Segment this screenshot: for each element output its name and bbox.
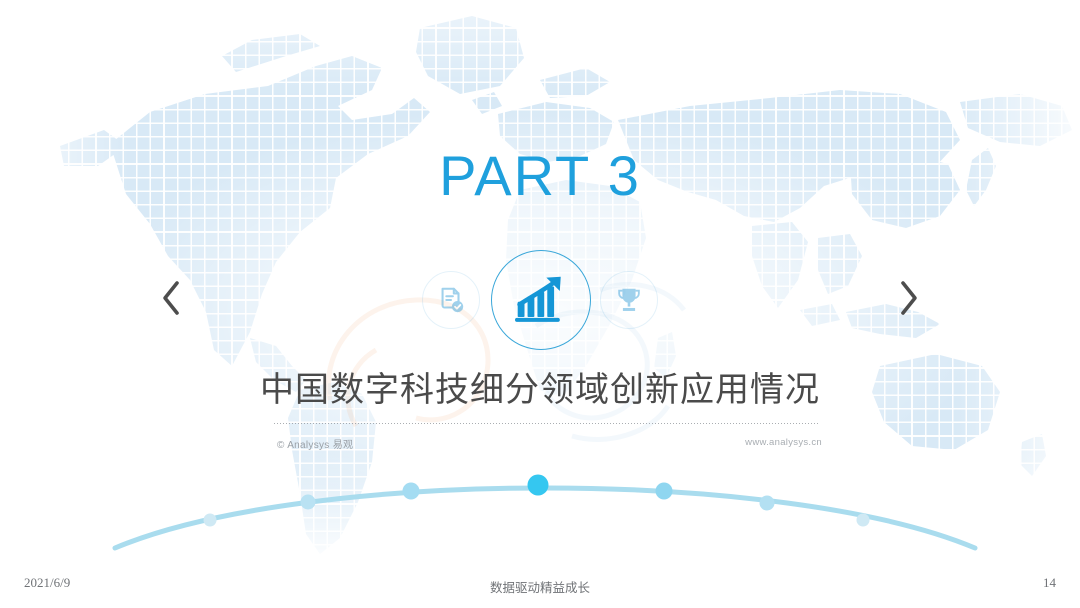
footer-page-number: 14 bbox=[1043, 575, 1056, 591]
progress-dot[interactable] bbox=[204, 514, 217, 527]
progress-dot-active[interactable] bbox=[528, 475, 549, 496]
progress-arc[interactable] bbox=[145, 462, 945, 542]
footer-tagline: 数据驱动精益成长 bbox=[0, 577, 1080, 596]
section-title: 中国数字科技细分领域创新应用情况 bbox=[0, 370, 1080, 410]
dotted-divider bbox=[274, 423, 820, 424]
chevron-left-icon bbox=[158, 278, 184, 318]
icon-cluster bbox=[410, 248, 670, 350]
progress-dot[interactable] bbox=[403, 483, 420, 500]
slide-canvas: PART 3 bbox=[0, 0, 1080, 608]
progress-arc-line bbox=[115, 488, 975, 548]
next-slide-button[interactable] bbox=[888, 272, 930, 324]
website-url: www.analysys.cn bbox=[745, 437, 822, 448]
chevron-right-icon bbox=[896, 278, 922, 318]
document-check-glyph bbox=[436, 285, 466, 315]
trophy-glyph bbox=[614, 285, 644, 315]
progress-dot-group bbox=[204, 475, 870, 527]
bar-chart-growth-icon bbox=[491, 250, 591, 350]
progress-dot[interactable] bbox=[760, 496, 775, 511]
progress-dot[interactable] bbox=[656, 483, 673, 500]
trophy-icon bbox=[600, 271, 658, 329]
bar-chart-growth-glyph bbox=[512, 274, 570, 326]
previous-slide-button[interactable] bbox=[150, 272, 192, 324]
progress-dot[interactable] bbox=[301, 495, 316, 510]
document-check-icon bbox=[422, 271, 480, 329]
progress-arc-svg bbox=[145, 462, 945, 542]
part-label: PART 3 bbox=[0, 148, 1080, 204]
progress-dot[interactable] bbox=[857, 514, 870, 527]
copyright-credit: © Analysys 易观 bbox=[277, 436, 353, 451]
